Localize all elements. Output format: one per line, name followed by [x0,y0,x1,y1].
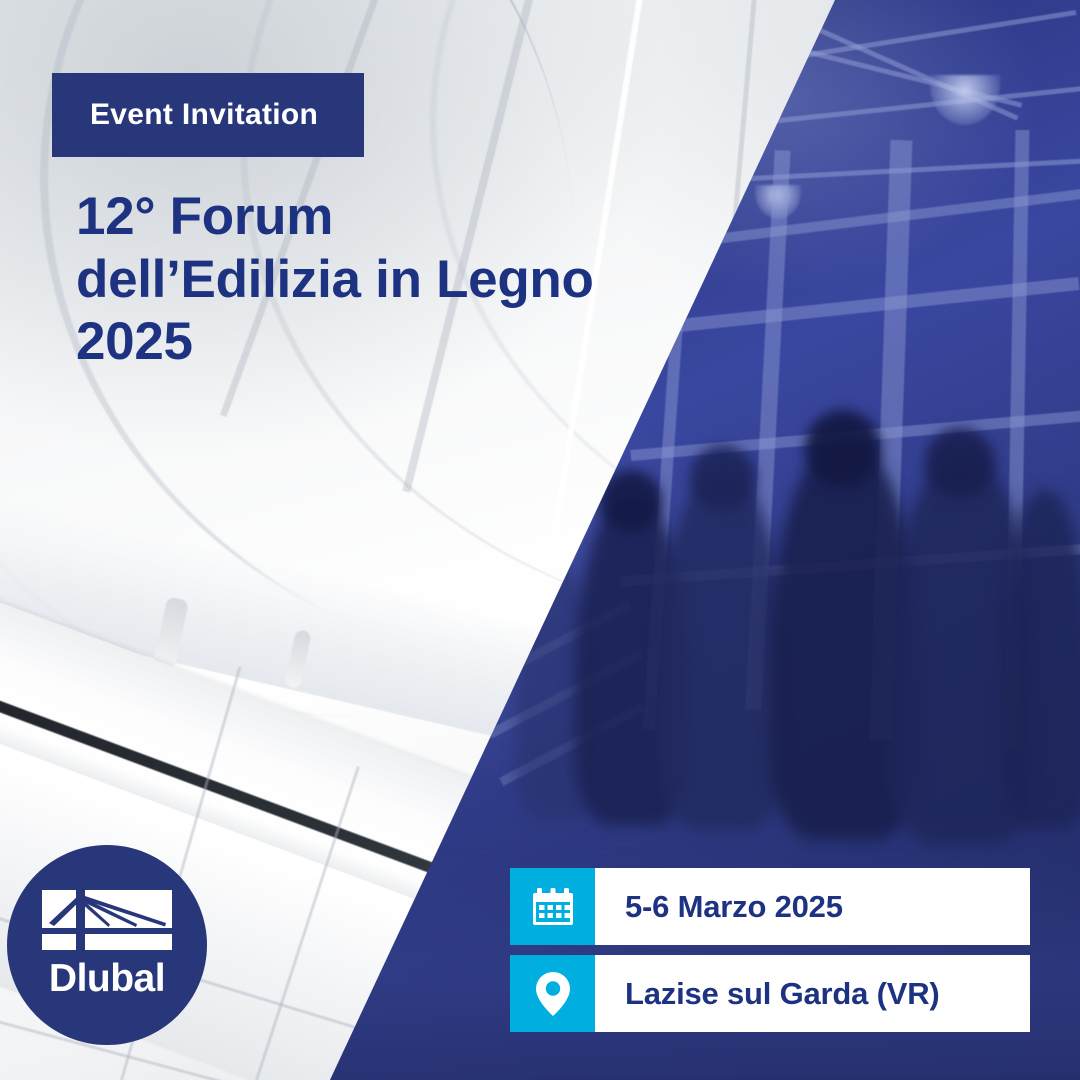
dlubal-wordmark: Dlubal [49,957,165,1001]
location-pin-icon-tile [510,955,595,1032]
page-title: 12° Forum dell’Edilizia in Legno 2025 [76,186,696,374]
badge-label: Event Invitation [52,98,318,132]
location-pin-icon [535,971,571,1017]
title-line-1: 12° Forum [76,186,696,249]
event-location-value: Lazise sul Garda (VR) [595,955,1030,1032]
event-date-value: 5-6 Marzo 2025 [595,868,1030,945]
title-line-2: dell’Edilizia in Legno [76,249,696,312]
calendar-icon [531,886,575,928]
title-line-3: 2025 [76,311,696,374]
event-details: 5-6 Marzo 2025 Lazise sul Garda (VR) [510,868,1030,1032]
event-invitation-poster: Event Invitation 12° Forum dell’Edilizia… [0,0,1080,1080]
event-date-row: 5-6 Marzo 2025 [510,868,1030,945]
dlubal-logo: Dlubal [7,845,207,1045]
event-invitation-badge: Event Invitation [52,73,364,157]
bridge-truss-icon [42,890,172,950]
calendar-icon-tile [510,868,595,945]
event-location-row: Lazise sul Garda (VR) [510,955,1030,1032]
